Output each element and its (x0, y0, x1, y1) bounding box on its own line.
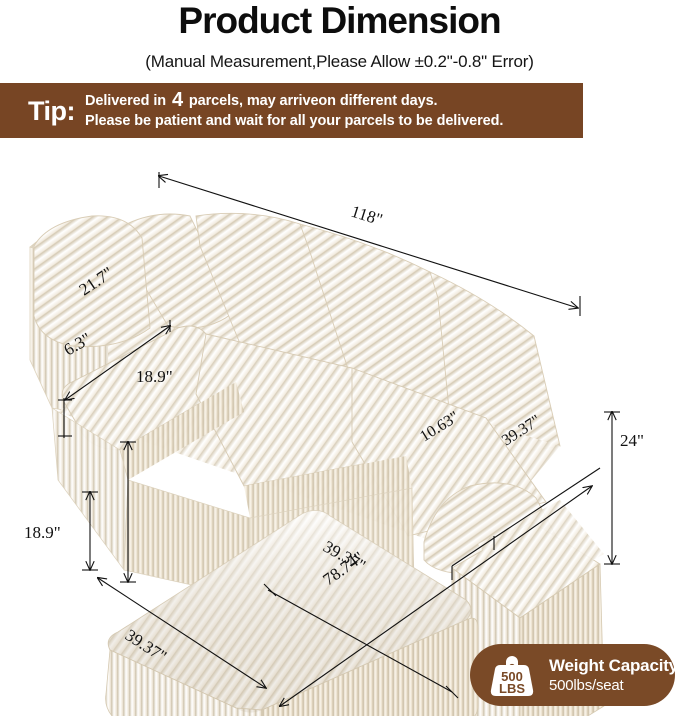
tip-line-1-after: parcels, may arriveon different days. (189, 93, 438, 109)
tip-line-2: Please be patient and wait for all your … (85, 111, 503, 131)
page-title: Product Dimension (0, 0, 679, 44)
dimension-label-overall-width: 118" (349, 202, 385, 230)
weight-capacity-subtitle: 500lbs/seat (549, 676, 678, 695)
dimension-label-overall-height: 24" (620, 431, 644, 450)
tip-message: Delivered in 4 parcels, may arriveon dif… (77, 90, 503, 131)
product-dimension-infographic: Product Dimension (Manual Measurement,Pl… (0, 0, 679, 716)
measurement-disclaimer: (Manual Measurement,Please Allow ±0.2"-0… (0, 50, 679, 74)
tip-line-1-before: Delivered in (85, 93, 166, 109)
dimension-overall-height: 24" (604, 412, 644, 564)
tip-banner: Tip: Delivered in 4 parcels, may arriveo… (0, 83, 583, 138)
weight-icon-unit: LBS (499, 681, 525, 696)
weight-capacity-title: Weight Capacity (549, 655, 678, 676)
weight-capacity-badge: 500 LBS Weight Capacity 500lbs/seat (470, 644, 675, 706)
dimension-label-seat-height: 18.9" (136, 367, 173, 386)
dimension-label-ottoman-height: 18.9" (24, 523, 61, 542)
tip-label: Tip: (0, 96, 77, 126)
weight-icon: 500 LBS (486, 652, 538, 698)
tip-line-1: Delivered in 4 parcels, may arriveon dif… (85, 90, 503, 111)
weight-capacity-texts: Weight Capacity 500lbs/seat (549, 655, 678, 695)
tip-parcel-count: 4 (170, 89, 185, 111)
sofa-illustration: 118" 21.7" 6.3" 18.9" 10.63" (0, 150, 679, 716)
